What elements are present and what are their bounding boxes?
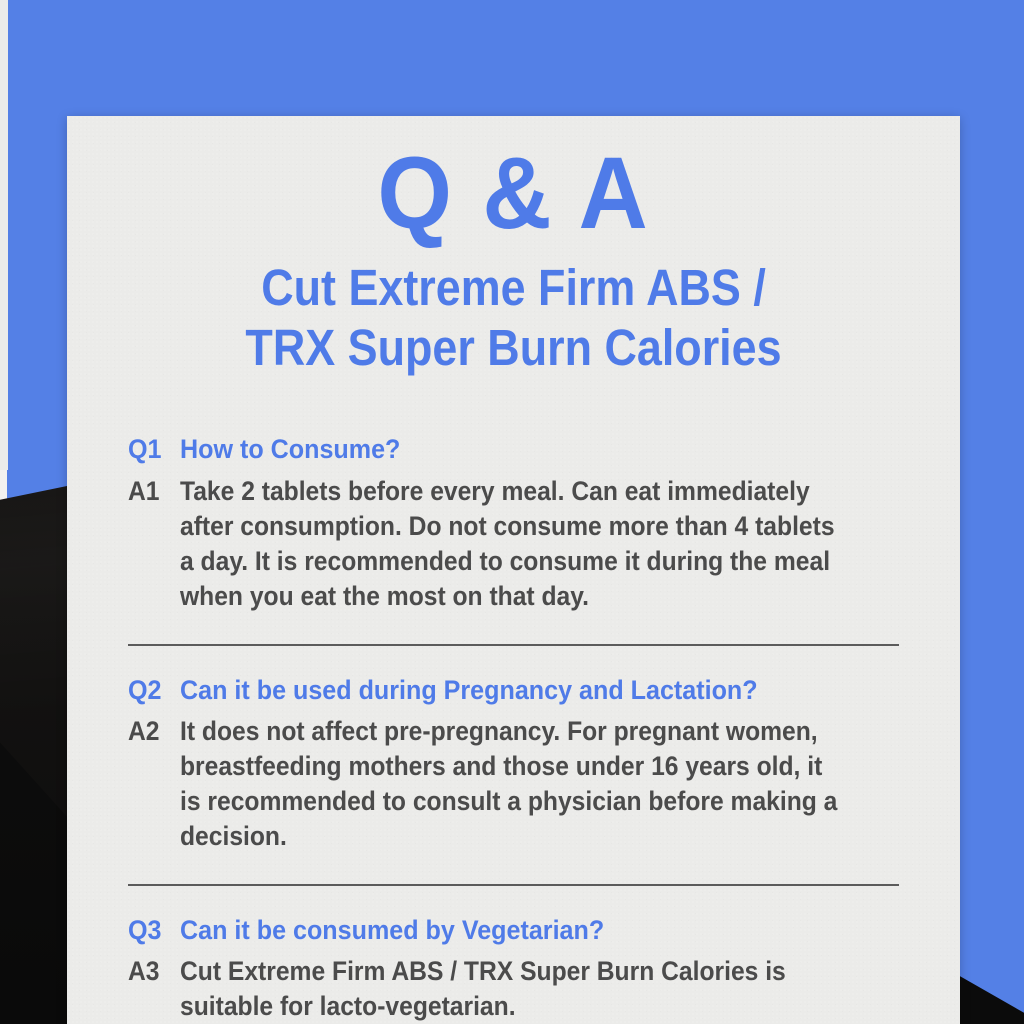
qa-block: Q3 Can it be consumed by Vegetarian? A3 …: [128, 914, 899, 1024]
poster-stage: Q & A Cut Extreme Firm ABS / TRX Super B…: [0, 0, 1024, 1024]
answer-row: A1 Take 2 tablets before every meal. Can…: [128, 474, 899, 614]
answer-text: Cut Extreme Firm ABS / TRX Super Burn Ca…: [180, 954, 849, 1024]
question-row: Q3 Can it be consumed by Vegetarian?: [128, 914, 899, 946]
qa-card-inner: Q & A Cut Extreme Firm ABS / TRX Super B…: [67, 142, 960, 1024]
answer-label: A2: [128, 714, 176, 749]
question-row: Q2 Can it be used during Pregnancy and L…: [128, 674, 899, 706]
page-title: Q & A: [151, 142, 876, 244]
answer-text: Take 2 tablets before every meal. Can ea…: [180, 474, 849, 614]
qa-block: Q2 Can it be used during Pregnancy and L…: [128, 674, 899, 886]
question-row: Q1 How to Consume?: [128, 433, 899, 465]
product-subtitle-line-2: TRX Super Burn Calories: [174, 318, 852, 378]
answer-row: A2 It does not affect pre-pregnancy. For…: [128, 714, 899, 854]
product-subtitle: Cut Extreme Firm ABS / TRX Super Burn Ca…: [174, 258, 852, 377]
qa-card: Q & A Cut Extreme Firm ABS / TRX Super B…: [67, 116, 960, 1024]
question-label: Q3: [128, 914, 176, 946]
section-divider: [128, 644, 899, 646]
answer-label: A3: [128, 954, 176, 989]
question-text: Can it be used during Pregnancy and Lact…: [180, 674, 849, 706]
product-subtitle-line-1: Cut Extreme Firm ABS /: [174, 258, 852, 318]
question-label: Q2: [128, 674, 176, 706]
section-divider: [128, 884, 899, 886]
answer-row: A3 Cut Extreme Firm ABS / TRX Super Burn…: [128, 954, 899, 1024]
qa-list: Q1 How to Consume? A1 Take 2 tablets bef…: [128, 433, 899, 1024]
qa-block: Q1 How to Consume? A1 Take 2 tablets bef…: [128, 433, 899, 645]
question-text: How to Consume?: [180, 433, 849, 465]
question-text: Can it be consumed by Vegetarian?: [180, 914, 849, 946]
question-label: Q1: [128, 433, 176, 465]
answer-text: It does not affect pre-pregnancy. For pr…: [180, 714, 849, 854]
answer-label: A1: [128, 474, 176, 509]
